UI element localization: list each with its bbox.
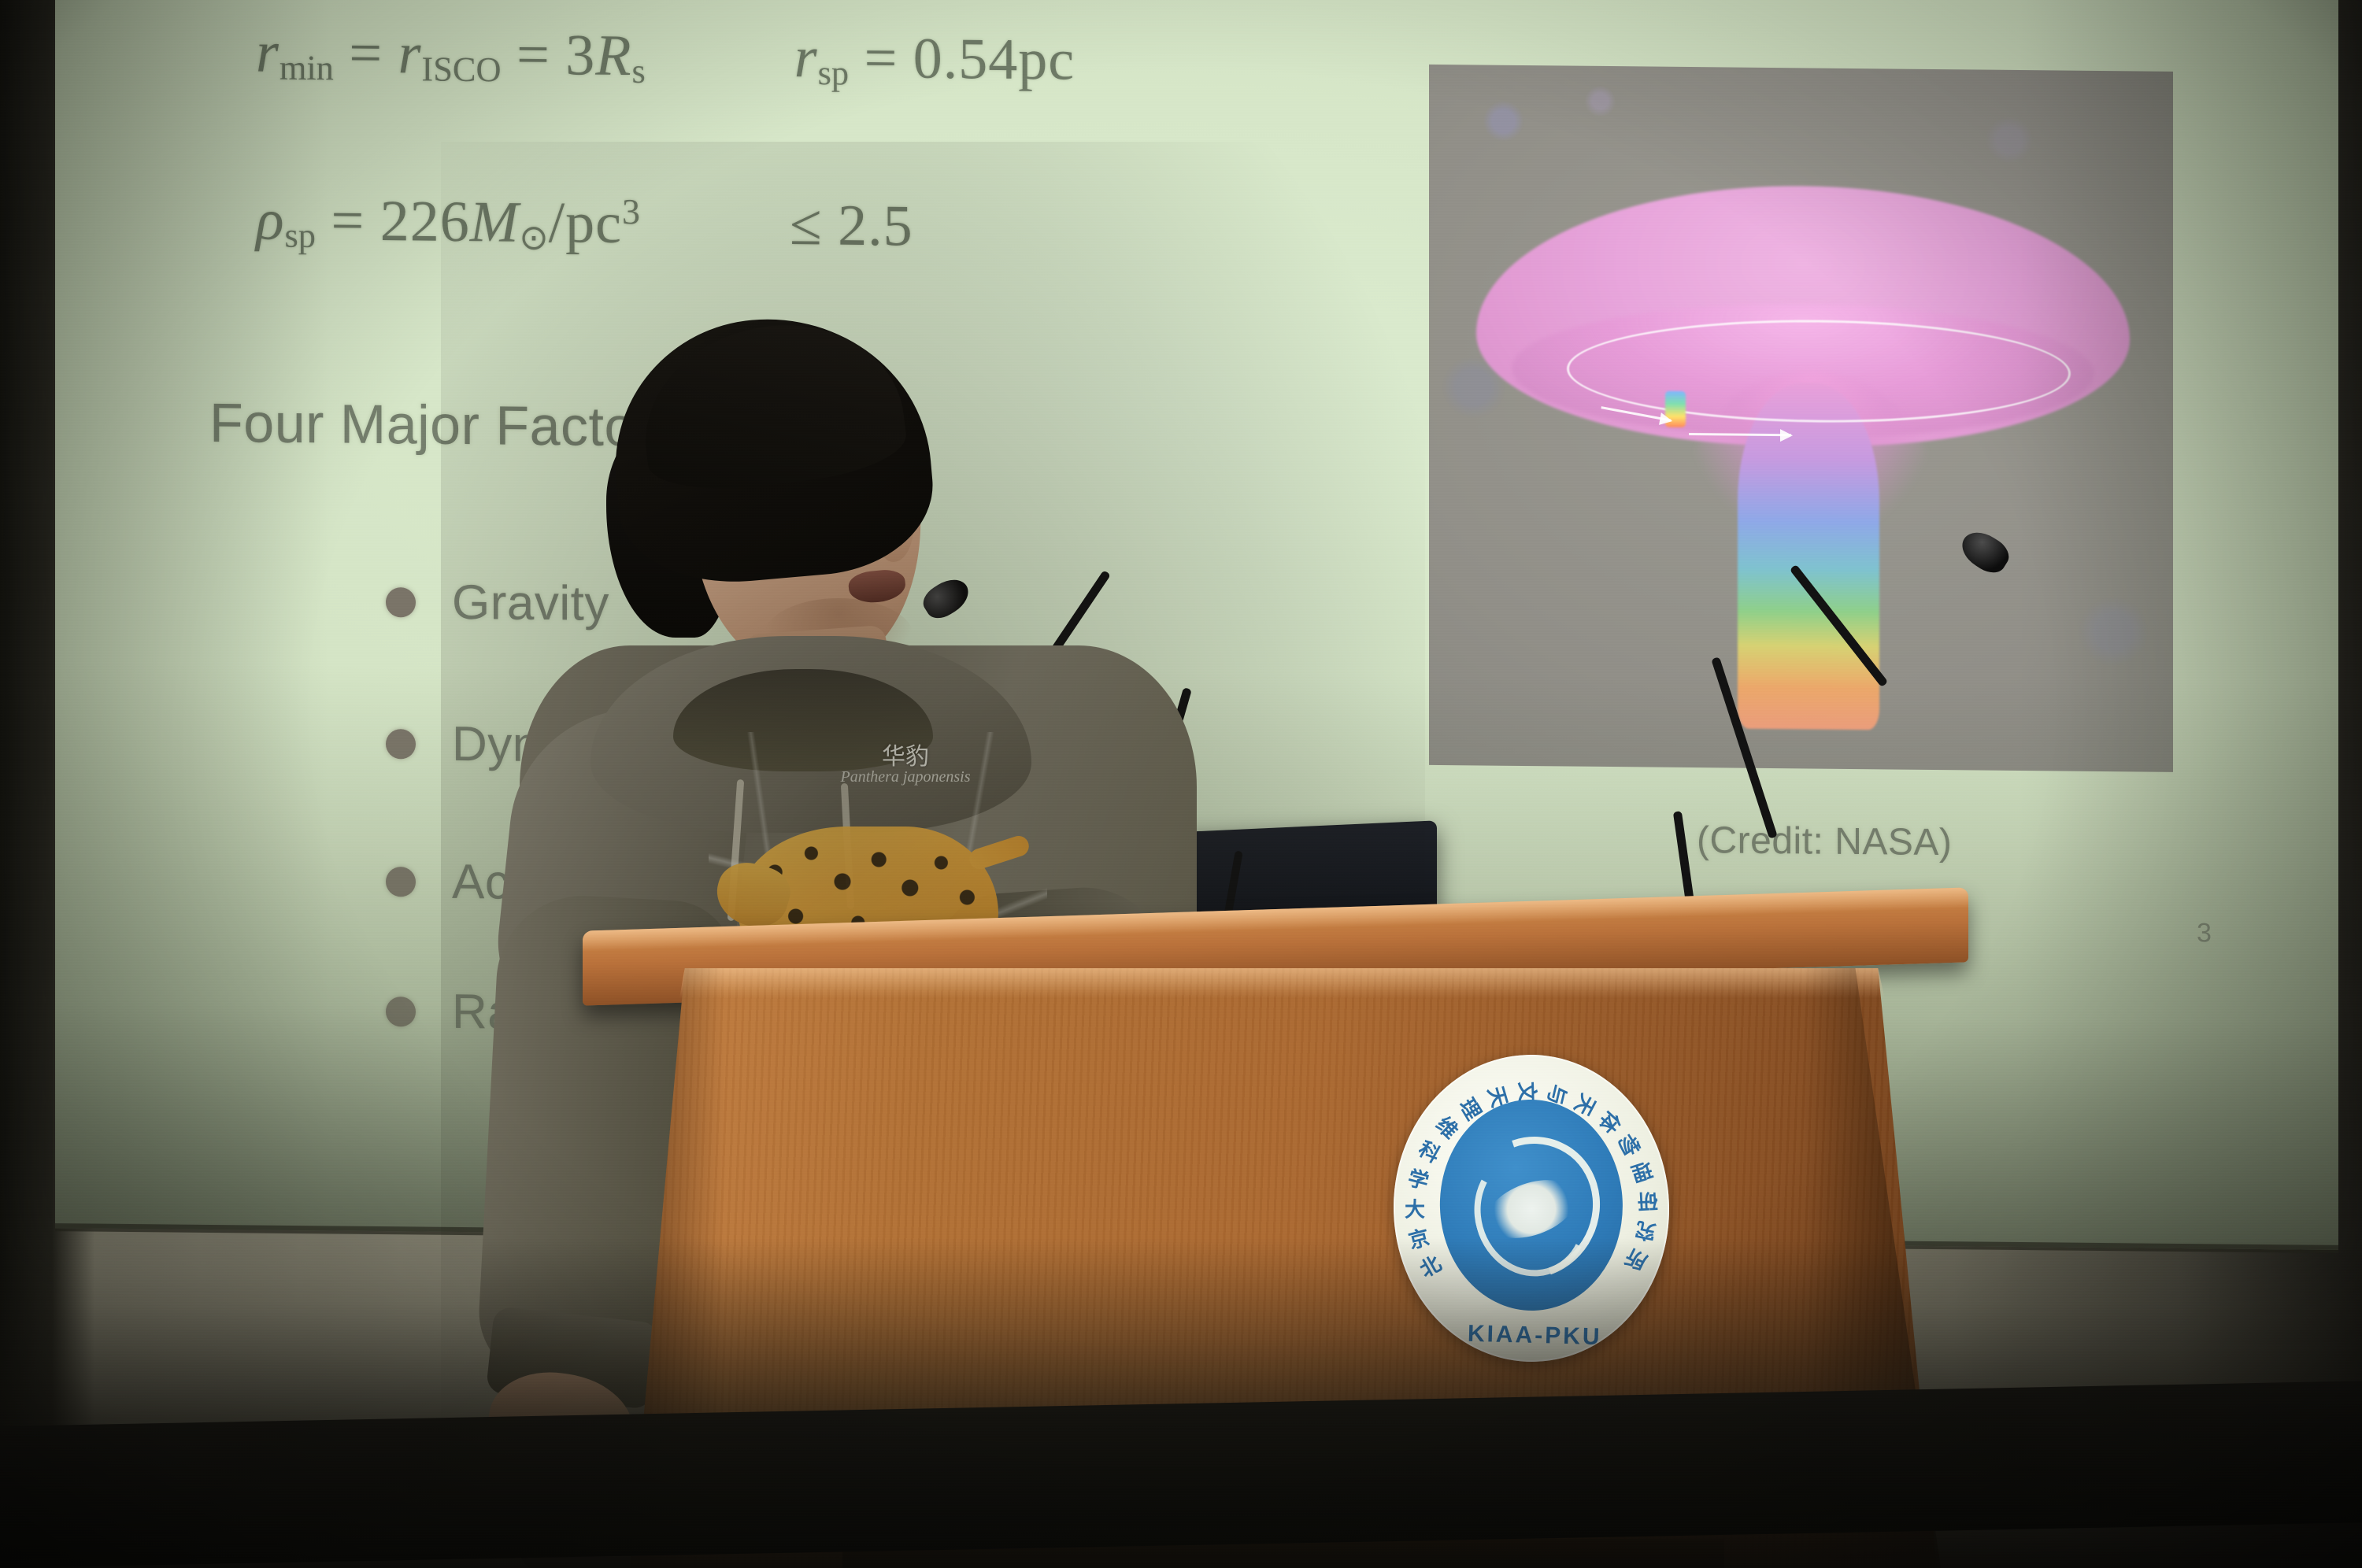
podium-bevel [630,968,1937,998]
logo-ring-char: 理 [1628,1156,1657,1189]
graphic-title-cn: 华豹 [803,737,1008,771]
logo-ring-char: 研 [1637,1187,1659,1217]
graphic-latin-name: Panthera japonensis [787,768,1024,786]
photograph-scene: rmin = rISCO = 3Rs rsp = 0.54pc ρsp = 22… [0,0,2362,1568]
logo-ring-char: 大 [1405,1194,1425,1223]
